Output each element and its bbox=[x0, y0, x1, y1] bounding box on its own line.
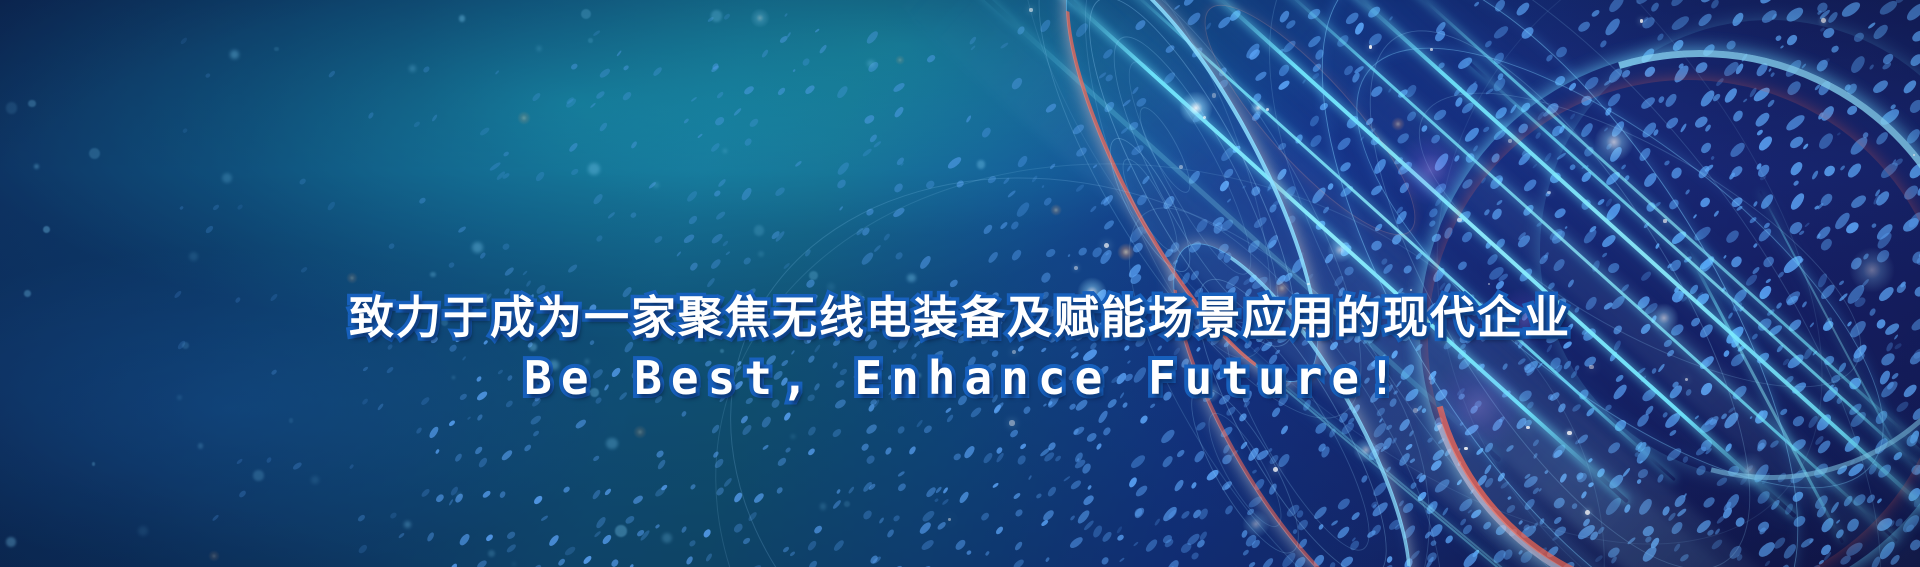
particle-dash bbox=[1881, 61, 1893, 71]
diagonal-light-beam bbox=[1185, 0, 1797, 519]
particle-dash bbox=[1665, 446, 1684, 463]
particle-dash bbox=[1575, 471, 1585, 481]
particle-dash bbox=[969, 36, 977, 45]
particle-dash bbox=[970, 45, 976, 51]
particle-dash bbox=[1871, 23, 1891, 43]
particle-dash bbox=[1602, 252, 1609, 258]
particle-dash bbox=[963, 444, 977, 459]
particle-dash bbox=[1763, 222, 1771, 229]
particle-dash bbox=[1645, 200, 1657, 213]
particle-dash bbox=[1654, 202, 1662, 209]
particle-dash bbox=[1670, 13, 1691, 31]
particle-dash bbox=[1470, 488, 1474, 493]
particle-dash bbox=[867, 60, 880, 73]
particle-dash bbox=[1520, 25, 1537, 41]
bokeh-dot bbox=[711, 10, 722, 21]
particle-dash bbox=[1308, 114, 1320, 128]
particle-dash bbox=[1641, 524, 1656, 538]
particle-dash bbox=[1559, 560, 1576, 567]
particle-dash bbox=[266, 457, 273, 464]
lens-glow bbox=[1594, 122, 1634, 162]
particle-dash bbox=[1816, 224, 1833, 241]
particle-dash bbox=[1220, 453, 1233, 466]
particle-dash bbox=[1553, 515, 1564, 525]
particle-dash bbox=[1388, 518, 1402, 532]
particle-dash bbox=[621, 91, 632, 102]
particle-dash bbox=[1914, 254, 1920, 267]
particle-dash bbox=[856, 227, 865, 236]
particle-dash bbox=[711, 62, 719, 70]
particle-dash bbox=[590, 102, 596, 108]
particle-dash bbox=[1179, 541, 1194, 555]
particle-dash bbox=[1809, 563, 1823, 567]
particle-dash bbox=[1722, 500, 1733, 512]
bokeh-dot bbox=[409, 65, 416, 72]
particle-dash bbox=[1353, 65, 1365, 75]
particle-dash bbox=[1635, 441, 1647, 454]
particle-dash bbox=[1102, 47, 1115, 60]
particle-dash bbox=[1538, 546, 1548, 555]
particle-dash bbox=[710, 257, 722, 269]
particle-dash bbox=[1826, 11, 1839, 25]
particle-dash bbox=[1692, 224, 1713, 243]
particle-dash bbox=[1246, 507, 1256, 516]
particle-dash bbox=[1791, 414, 1806, 428]
particle-dash bbox=[1098, 71, 1107, 79]
particle-dash bbox=[632, 494, 644, 505]
particle-dash bbox=[575, 418, 588, 430]
particle-dash bbox=[1216, 250, 1225, 261]
particle-dash bbox=[833, 538, 846, 551]
particle-dash bbox=[949, 278, 959, 288]
particle-dash bbox=[182, 127, 188, 133]
particle-dash bbox=[1734, 515, 1747, 528]
particle-dash bbox=[1405, 110, 1418, 123]
particle-dash bbox=[1521, 148, 1529, 157]
particle-dash bbox=[1420, 124, 1427, 132]
particle-dash bbox=[1190, 551, 1200, 561]
particle-dash bbox=[861, 226, 871, 236]
particle-dash bbox=[894, 251, 904, 261]
particle-dash bbox=[1846, 161, 1864, 180]
particle-dash bbox=[418, 196, 426, 204]
particle-dash bbox=[479, 126, 491, 137]
particle-dash bbox=[1905, 1, 1920, 23]
bokeh-dot bbox=[820, 503, 826, 509]
lens-glow-group bbox=[0, 0, 1920, 567]
particle-dash bbox=[946, 155, 963, 171]
particle-dash bbox=[864, 454, 875, 465]
particle-dash bbox=[449, 563, 459, 567]
particle-dash bbox=[1471, 549, 1480, 558]
particle-dash bbox=[1821, 57, 1830, 65]
particle-dash bbox=[1298, 538, 1309, 550]
particle-dash bbox=[680, 526, 687, 534]
particle-dash bbox=[789, 550, 796, 556]
particle-dash bbox=[1800, 536, 1815, 549]
particle-dash bbox=[1755, 163, 1762, 171]
particle-dash bbox=[1395, 131, 1411, 146]
bokeh-dot bbox=[653, 182, 659, 188]
orbital-ring bbox=[1157, 0, 1920, 567]
particle-dash bbox=[1459, 101, 1475, 116]
particle-dash bbox=[1496, 199, 1503, 206]
lens-glow bbox=[346, 272, 358, 284]
particle-dash bbox=[1191, 482, 1198, 490]
particle-dash bbox=[1133, 506, 1146, 520]
particle-dash bbox=[1187, 239, 1203, 255]
particle-dash bbox=[1280, 424, 1290, 435]
particle-dash bbox=[1846, 461, 1865, 478]
particle-dash bbox=[1756, 437, 1769, 451]
particle-dash bbox=[1276, 168, 1289, 182]
particle-dash bbox=[1729, 195, 1743, 208]
particle-dash bbox=[1121, 99, 1131, 108]
particle-dash bbox=[705, 553, 713, 563]
particle-dash bbox=[1485, 240, 1493, 250]
particle-dash bbox=[522, 270, 528, 276]
particle-dash bbox=[1127, 224, 1146, 245]
particle-dash bbox=[1244, 42, 1261, 61]
particle-dash bbox=[1490, 206, 1503, 220]
particle-dash bbox=[1425, 499, 1440, 516]
orbital-ring bbox=[880, 0, 1920, 567]
particle-dash bbox=[1845, 517, 1861, 534]
particle-dash bbox=[1443, 227, 1454, 240]
particle-dash bbox=[1544, 470, 1548, 475]
particle-dash bbox=[656, 459, 667, 471]
particle-dash bbox=[1901, 216, 1920, 235]
particle-dash bbox=[1385, 424, 1393, 432]
particle-dash bbox=[1458, 518, 1467, 527]
particle-dash bbox=[1910, 28, 1920, 43]
particle-dash bbox=[1838, 280, 1845, 286]
particle-dash bbox=[1553, 525, 1569, 539]
particle-dash bbox=[1335, 524, 1350, 539]
sparkle-dot bbox=[1457, 218, 1462, 223]
particle-dash bbox=[1679, 553, 1690, 563]
particle-dash bbox=[534, 171, 546, 184]
particle-dash bbox=[1723, 492, 1741, 512]
orbital-ring-group bbox=[0, 0, 1920, 567]
particle-dash bbox=[1084, 519, 1096, 531]
particle-dash bbox=[1464, 152, 1477, 165]
particle-dash bbox=[884, 446, 892, 455]
particle-dash bbox=[1128, 453, 1146, 470]
particle-dash bbox=[1735, 205, 1742, 212]
particle-dash bbox=[1535, 221, 1542, 228]
bokeh-dot bbox=[274, 47, 279, 52]
particle-dash bbox=[1218, 179, 1231, 193]
particle-dash bbox=[1580, 490, 1588, 499]
particle-dash bbox=[1626, 537, 1636, 546]
particle-dash bbox=[1755, 162, 1771, 179]
particle-dash bbox=[1346, 416, 1355, 425]
particle-dash bbox=[1744, 273, 1759, 288]
particle-dash bbox=[1338, 241, 1350, 254]
particle-dash bbox=[1372, 503, 1378, 509]
background-teal-glow bbox=[0, 0, 1920, 567]
particle-dash bbox=[892, 81, 906, 93]
particle-dash bbox=[1492, 51, 1506, 66]
particle-dash bbox=[1889, 553, 1902, 566]
particle-dash bbox=[569, 142, 580, 153]
particle-dash bbox=[1493, 0, 1507, 14]
headline-chinese: 致力于成为一家聚焦无线电装备及赋能场景应用的现代企业 bbox=[0, 289, 1920, 347]
particle-dash bbox=[1161, 505, 1179, 524]
particle-dash bbox=[723, 13, 731, 20]
particle-dash bbox=[954, 538, 967, 552]
particle-dash bbox=[1699, 0, 1716, 5]
particle-dash bbox=[836, 489, 841, 495]
particle-dash bbox=[1759, 174, 1767, 181]
particle-dash bbox=[1866, 493, 1877, 504]
particle-dash bbox=[389, 512, 397, 520]
particle-dash bbox=[1343, 265, 1356, 277]
particle-dash bbox=[1487, 173, 1504, 191]
particle-dash bbox=[1010, 220, 1020, 230]
orbital-ring bbox=[1110, 49, 1270, 286]
particle-dash bbox=[349, 464, 354, 470]
sparkle-dot bbox=[1179, 165, 1183, 169]
particle-dash bbox=[1910, 250, 1920, 266]
particle-dash bbox=[563, 545, 576, 557]
particle-dash bbox=[1750, 416, 1754, 420]
particle-dash bbox=[1756, 409, 1765, 420]
particle-dash bbox=[1282, 272, 1294, 284]
particle-dash bbox=[655, 450, 665, 460]
particle-dash bbox=[722, 240, 729, 247]
particle-dash bbox=[1621, 164, 1628, 171]
particle-dash bbox=[1381, 437, 1393, 452]
particle-dash bbox=[1789, 437, 1808, 454]
particle-dash bbox=[212, 203, 220, 211]
particle-dash bbox=[1878, 0, 1899, 18]
particle-dash bbox=[958, 490, 971, 504]
particle-dash bbox=[918, 255, 932, 271]
particle-dash bbox=[1391, 437, 1397, 444]
particle-dash bbox=[1699, 438, 1714, 454]
bokeh-dot bbox=[230, 50, 239, 59]
particle-dash bbox=[1634, 0, 1651, 6]
particle-dash bbox=[739, 186, 753, 202]
sparkle-dot bbox=[1104, 243, 1109, 248]
particle-dash bbox=[1772, 535, 1787, 550]
particle-dash bbox=[1550, 229, 1567, 247]
particle-dash bbox=[1239, 441, 1248, 451]
particle-dash bbox=[565, 96, 575, 105]
particle-dash bbox=[1404, 84, 1418, 100]
particle-dash bbox=[1553, 206, 1568, 219]
particle-dash bbox=[1698, 417, 1720, 436]
particle-dash bbox=[1339, 243, 1354, 258]
particle-dash bbox=[1862, 252, 1870, 260]
particle-dash bbox=[1042, 508, 1056, 522]
particle-dash bbox=[925, 485, 938, 498]
particle-dash bbox=[753, 492, 765, 504]
particle-dash bbox=[435, 448, 440, 454]
particle-dash bbox=[1516, 150, 1532, 167]
particle-dash bbox=[1901, 183, 1920, 202]
particle-dash bbox=[1817, 202, 1824, 210]
particle-dash bbox=[1369, 183, 1384, 197]
particle-dash bbox=[1494, 237, 1506, 250]
particle-dash bbox=[1657, 95, 1664, 103]
particle-dash bbox=[1760, 7, 1778, 24]
particle-dash bbox=[1189, 269, 1200, 281]
particle-dash bbox=[1077, 246, 1089, 257]
diagonal-light-beam bbox=[980, 0, 1920, 567]
particle-dash bbox=[1103, 73, 1114, 83]
particle-dash bbox=[897, 470, 905, 477]
particle-dash bbox=[1838, 554, 1852, 567]
particle-dash bbox=[864, 423, 878, 436]
particle-dash bbox=[1610, 556, 1618, 565]
particle-dash bbox=[1813, 205, 1819, 211]
particle-dash bbox=[1218, 242, 1231, 255]
particle-dash bbox=[1643, 64, 1657, 78]
particle-dash bbox=[1777, 271, 1785, 279]
particle-dash bbox=[1008, 428, 1019, 439]
particle-dash bbox=[1142, 228, 1148, 235]
particle-dash bbox=[1185, 532, 1201, 547]
particle-dash bbox=[1285, 18, 1297, 29]
particle-dash bbox=[1791, 514, 1807, 529]
particle-dash bbox=[1290, 257, 1306, 275]
particle-dash bbox=[1103, 101, 1116, 114]
particle-dash bbox=[1807, 415, 1820, 430]
particle-dash bbox=[1537, 111, 1546, 121]
particle-dash bbox=[449, 419, 457, 427]
particle-dash bbox=[1397, 418, 1411, 433]
particle-dash bbox=[1591, 259, 1601, 272]
particle-dash bbox=[1802, 143, 1809, 151]
particle-dash bbox=[593, 530, 601, 537]
particle-dash bbox=[1844, 540, 1865, 558]
particle-dash bbox=[1369, 128, 1376, 134]
particle-dash bbox=[1101, 194, 1115, 208]
particle-dash bbox=[1409, 458, 1415, 464]
sparkle-dot bbox=[1508, 139, 1512, 143]
particle-dash bbox=[1255, 448, 1270, 462]
particle-dash bbox=[1874, 189, 1892, 208]
particle-dash bbox=[1162, 71, 1177, 86]
particle-dash-field bbox=[0, 0, 1920, 567]
particle-dash bbox=[1670, 38, 1685, 53]
particle-dash bbox=[1196, 538, 1206, 548]
particle-dash bbox=[715, 210, 727, 221]
particle-dash bbox=[1311, 62, 1322, 73]
particle-dash bbox=[1846, 104, 1860, 117]
sparkle-dot bbox=[1640, 19, 1643, 22]
sparkle-dot bbox=[1266, 108, 1269, 111]
particle-dash bbox=[467, 416, 471, 420]
particle-dash bbox=[1430, 540, 1438, 547]
particle-dash bbox=[1804, 222, 1810, 228]
particle-dash bbox=[1351, 71, 1361, 83]
particle-dash bbox=[1663, 160, 1670, 167]
particle-dash bbox=[1550, 124, 1564, 138]
particle-dash bbox=[1699, 257, 1716, 273]
particle-dash bbox=[1523, 418, 1533, 428]
particle-dash bbox=[1580, 170, 1593, 184]
particle-dash bbox=[476, 413, 483, 421]
particle-dash bbox=[1394, 523, 1403, 532]
particle-dash bbox=[1736, 554, 1744, 563]
particle-dash bbox=[1700, 254, 1717, 274]
bokeh-dot bbox=[222, 173, 233, 184]
particle-dash bbox=[1694, 114, 1710, 129]
particle-dash bbox=[1576, 20, 1591, 34]
particle-dash bbox=[1127, 120, 1139, 132]
particle-dash bbox=[1870, 555, 1882, 567]
particle-dash bbox=[1669, 229, 1687, 246]
particle-dash bbox=[1507, 528, 1518, 538]
particle-dash bbox=[397, 532, 404, 539]
particle-dash bbox=[1819, 104, 1837, 123]
particle-dash bbox=[1538, 487, 1543, 492]
particle-dash bbox=[1293, 134, 1304, 146]
bokeh-dot bbox=[472, 242, 483, 253]
particle-dash bbox=[1516, 122, 1530, 136]
particle-dash bbox=[630, 212, 638, 219]
particle-dash bbox=[1164, 44, 1176, 55]
particle-dash bbox=[1031, 175, 1039, 184]
particle-dash bbox=[713, 115, 725, 127]
particle-dash bbox=[1188, 170, 1203, 186]
bokeh-dot bbox=[758, 251, 764, 257]
particle-dash bbox=[1318, 102, 1329, 112]
particle-dash bbox=[1579, 121, 1595, 138]
particle-dash bbox=[1003, 177, 1011, 185]
particle-dash bbox=[1432, 151, 1451, 173]
particle-dash bbox=[1500, 480, 1510, 489]
particle-dash bbox=[1588, 481, 1595, 488]
particle-dash bbox=[501, 449, 515, 462]
particle-dash bbox=[1680, 123, 1688, 133]
particle-dash bbox=[936, 521, 947, 532]
particle-dash bbox=[616, 50, 622, 57]
particle-dash bbox=[1317, 524, 1324, 531]
sparkle-dot bbox=[1074, 266, 1078, 270]
particle-dash bbox=[238, 489, 247, 498]
particle-dash bbox=[1599, 40, 1608, 49]
particle-dash bbox=[1698, 88, 1717, 109]
particle-dash bbox=[1496, 177, 1503, 185]
particle-dash bbox=[1668, 258, 1683, 274]
particle-dash bbox=[1901, 79, 1918, 96]
particle-dash bbox=[1399, 499, 1406, 506]
particle-dash bbox=[1808, 537, 1814, 544]
particle-dash bbox=[1564, 226, 1568, 230]
particle-dash bbox=[1789, 191, 1807, 212]
bokeh-dot bbox=[581, 9, 591, 19]
particle-dash bbox=[1799, 258, 1804, 264]
particle-dash bbox=[1278, 48, 1284, 54]
particle-dash bbox=[1606, 440, 1622, 456]
sparkle-dot bbox=[1009, 420, 1014, 425]
particle-dash bbox=[1006, 190, 1016, 199]
particle-dash bbox=[1432, 29, 1446, 43]
particle-dash bbox=[892, 514, 901, 523]
particle-dash bbox=[1192, 508, 1203, 520]
particle-dash bbox=[1623, 504, 1631, 514]
particle-dash bbox=[1871, 78, 1890, 95]
particle-dash bbox=[1041, 185, 1044, 188]
particle-dash bbox=[865, 29, 880, 45]
bokeh-dot bbox=[311, 476, 318, 483]
particle-dash bbox=[1696, 164, 1711, 180]
